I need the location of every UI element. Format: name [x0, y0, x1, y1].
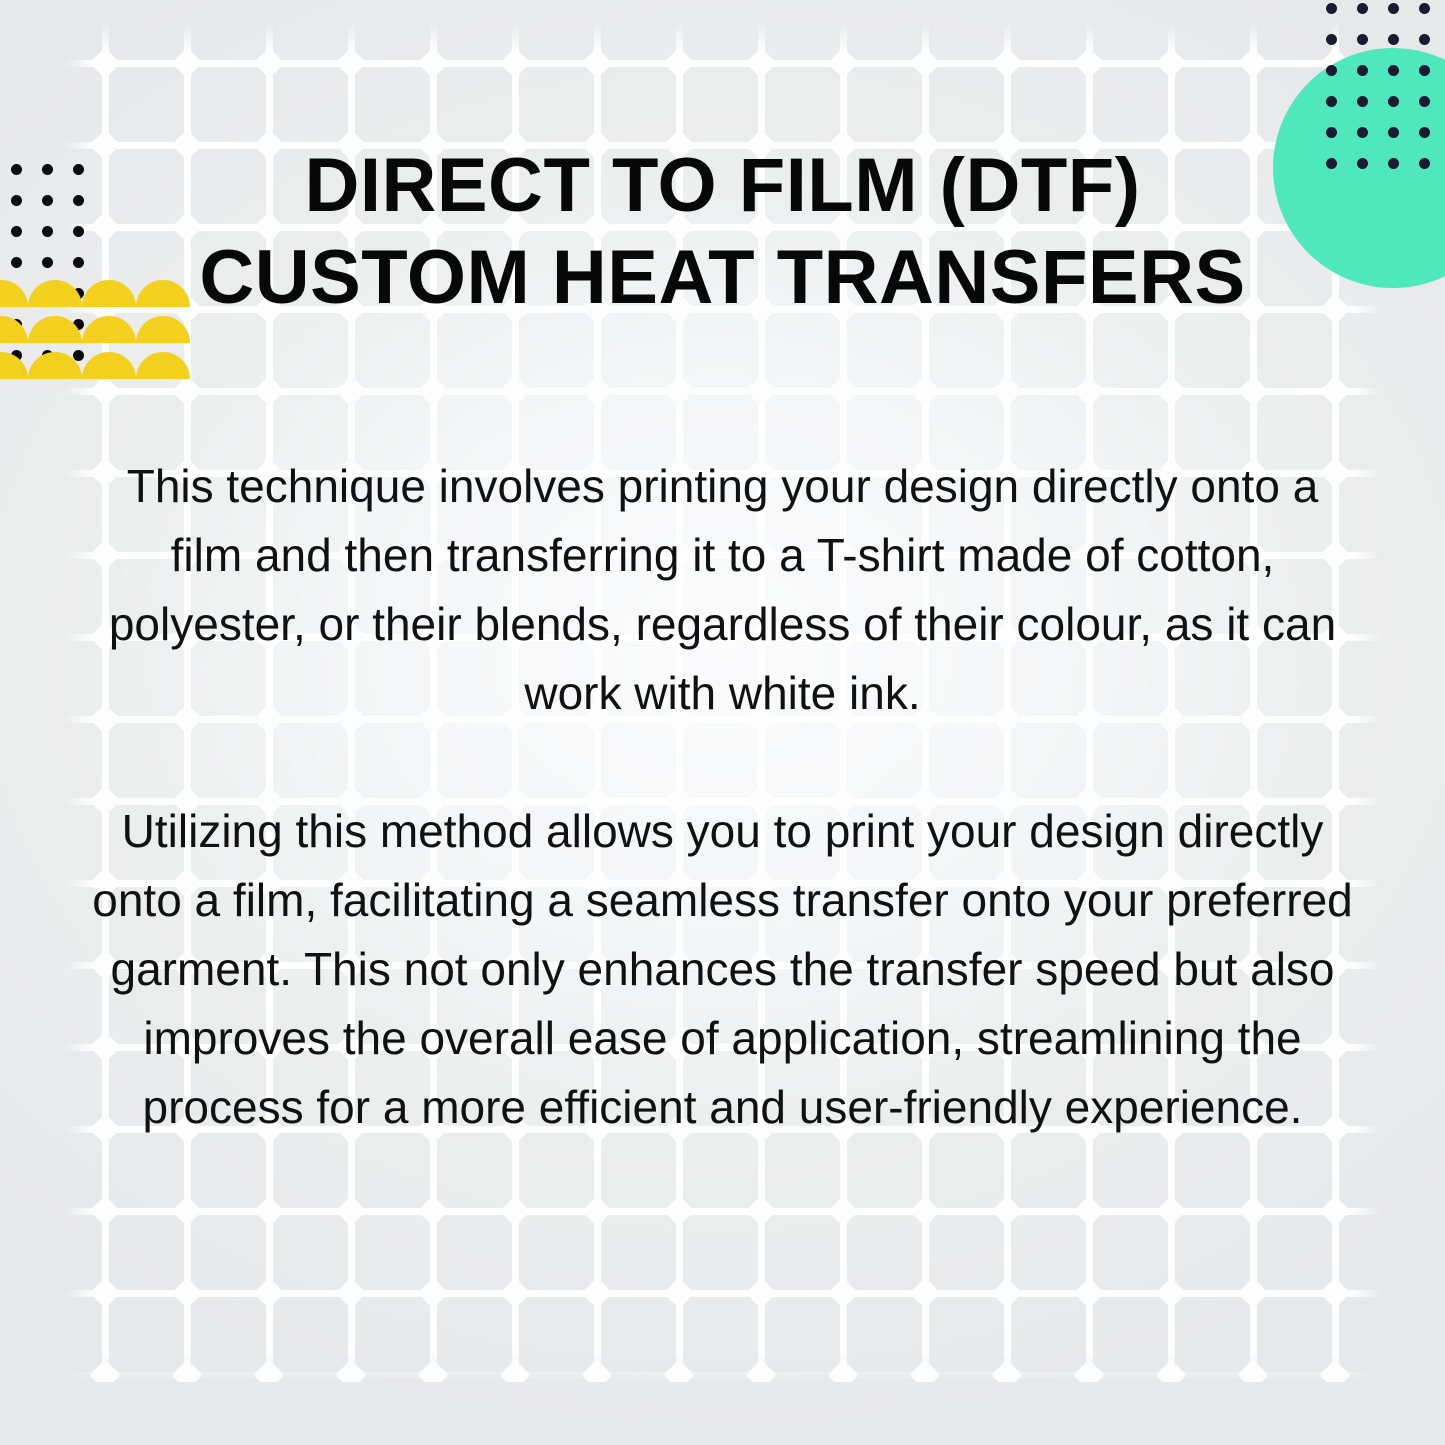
- grid-diamond: [1237, 47, 1268, 78]
- grid-diamond: [89, 1195, 120, 1226]
- title-line-1: DIRECT TO FILM (DTF): [0, 140, 1445, 232]
- grid-diamond: [991, 1277, 1022, 1308]
- grid-diamond: [745, 1359, 776, 1382]
- grid-diamond: [499, 375, 530, 406]
- decorative-dot: [1388, 34, 1399, 45]
- grid-diamond: [991, 1195, 1022, 1226]
- decorative-dot: [11, 350, 22, 361]
- grid-diamond: [253, 1277, 284, 1308]
- grid-diamond: [1319, 1359, 1350, 1382]
- grid-diamond: [991, 375, 1022, 406]
- grid-diamond: [1155, 47, 1186, 78]
- grid-diamond: [827, 375, 858, 406]
- scallop-semicircle: [28, 352, 82, 379]
- grid-diamond: [335, 375, 366, 406]
- grid-diamond: [171, 1195, 202, 1226]
- grid-diamond: [171, 1359, 202, 1382]
- grid-diamond: [909, 1359, 940, 1382]
- grid-diamond: [745, 375, 776, 406]
- grid-diamond: [991, 1359, 1022, 1382]
- body-text: This technique involves printing your de…: [90, 452, 1355, 1142]
- grid-diamond: [1319, 375, 1350, 406]
- paragraph-2: Utilizing this method allows you to prin…: [90, 797, 1355, 1142]
- grid-diamond: [1155, 1359, 1186, 1382]
- grid-diamond: [335, 47, 366, 78]
- decorative-dot: [73, 350, 84, 361]
- grid-diamond: [991, 47, 1022, 78]
- grid-diamond: [581, 1195, 612, 1226]
- grid-diamond: [909, 1277, 940, 1308]
- scallop-semicircle: [82, 352, 136, 379]
- grid-diamond: [171, 47, 202, 78]
- grid-diamond: [581, 1277, 612, 1308]
- grid-diamond: [1237, 1195, 1268, 1226]
- grid-diamond: [499, 47, 530, 78]
- grid-diamond: [171, 1277, 202, 1308]
- grid-diamond: [909, 1195, 940, 1226]
- page-title: DIRECT TO FILM (DTF) CUSTOM HEAT TRANSFE…: [0, 140, 1445, 324]
- grid-diamond: [89, 1277, 120, 1308]
- scallop-row: [0, 352, 150, 379]
- grid-diamond: [1155, 1195, 1186, 1226]
- decorative-dot: [1357, 34, 1368, 45]
- grid-diamond: [171, 375, 202, 406]
- grid-diamond: [1237, 1359, 1268, 1382]
- grid-diamond: [1073, 1195, 1104, 1226]
- grid-diamond: [335, 1359, 366, 1382]
- grid-diamond: [499, 1359, 530, 1382]
- grid-diamond: [417, 47, 448, 78]
- grid-diamond: [417, 1277, 448, 1308]
- poster-canvas: DIRECT TO FILM (DTF) CUSTOM HEAT TRANSFE…: [0, 0, 1445, 1445]
- grid-diamond: [1073, 1359, 1104, 1382]
- grid-diamond: [1319, 1195, 1350, 1226]
- grid-diamond: [1237, 375, 1268, 406]
- decorative-dot: [1326, 34, 1337, 45]
- grid-diamond: [89, 1359, 120, 1382]
- grid-diamond: [1073, 1277, 1104, 1308]
- grid-diamond: [89, 47, 120, 78]
- grid-diamond: [1155, 375, 1186, 406]
- grid-diamond: [253, 1195, 284, 1226]
- grid-diamond: [745, 1195, 776, 1226]
- grid-diamond: [827, 1359, 858, 1382]
- title-line-2: CUSTOM HEAT TRANSFERS: [0, 232, 1445, 324]
- grid-diamond: [581, 47, 612, 78]
- grid-diamond: [417, 1359, 448, 1382]
- grid-diamond: [827, 1195, 858, 1226]
- grid-diamond: [417, 1195, 448, 1226]
- grid-diamond: [745, 1277, 776, 1308]
- grid-diamond: [253, 1359, 284, 1382]
- grid-diamond: [253, 375, 284, 406]
- grid-diamond: [663, 47, 694, 78]
- grid-diamond: [745, 47, 776, 78]
- grid-diamond: [499, 1195, 530, 1226]
- grid-diamond: [1319, 1277, 1350, 1308]
- decorative-dot: [1388, 3, 1399, 14]
- scallop-semicircle: [136, 352, 190, 379]
- grid-diamond: [909, 47, 940, 78]
- grid-diamond: [663, 375, 694, 406]
- decorative-dot: [1326, 3, 1337, 14]
- grid-diamond: [335, 1277, 366, 1308]
- grid-diamond: [581, 1359, 612, 1382]
- decorative-dot: [1419, 34, 1430, 45]
- grid-diamond: [1155, 1277, 1186, 1308]
- grid-diamond: [89, 375, 120, 406]
- grid-diamond: [663, 1277, 694, 1308]
- grid-diamond: [663, 1195, 694, 1226]
- scallop-semicircle: [0, 352, 28, 379]
- grid-diamond: [1073, 375, 1104, 406]
- grid-diamond: [909, 375, 940, 406]
- grid-diamond: [1237, 1277, 1268, 1308]
- grid-diamond: [253, 47, 284, 78]
- grid-diamond: [581, 375, 612, 406]
- grid-diamond: [1073, 47, 1104, 78]
- grid-diamond: [417, 375, 448, 406]
- grid-diamond: [827, 47, 858, 78]
- grid-diamond: [499, 1277, 530, 1308]
- grid-diamond: [827, 1277, 858, 1308]
- paragraph-1: This technique involves printing your de…: [90, 452, 1355, 728]
- decorative-dot: [1357, 3, 1368, 14]
- decorative-dot: [42, 350, 53, 361]
- grid-diamond: [335, 1195, 366, 1226]
- decorative-dot: [1419, 3, 1430, 14]
- grid-diamond: [663, 1359, 694, 1382]
